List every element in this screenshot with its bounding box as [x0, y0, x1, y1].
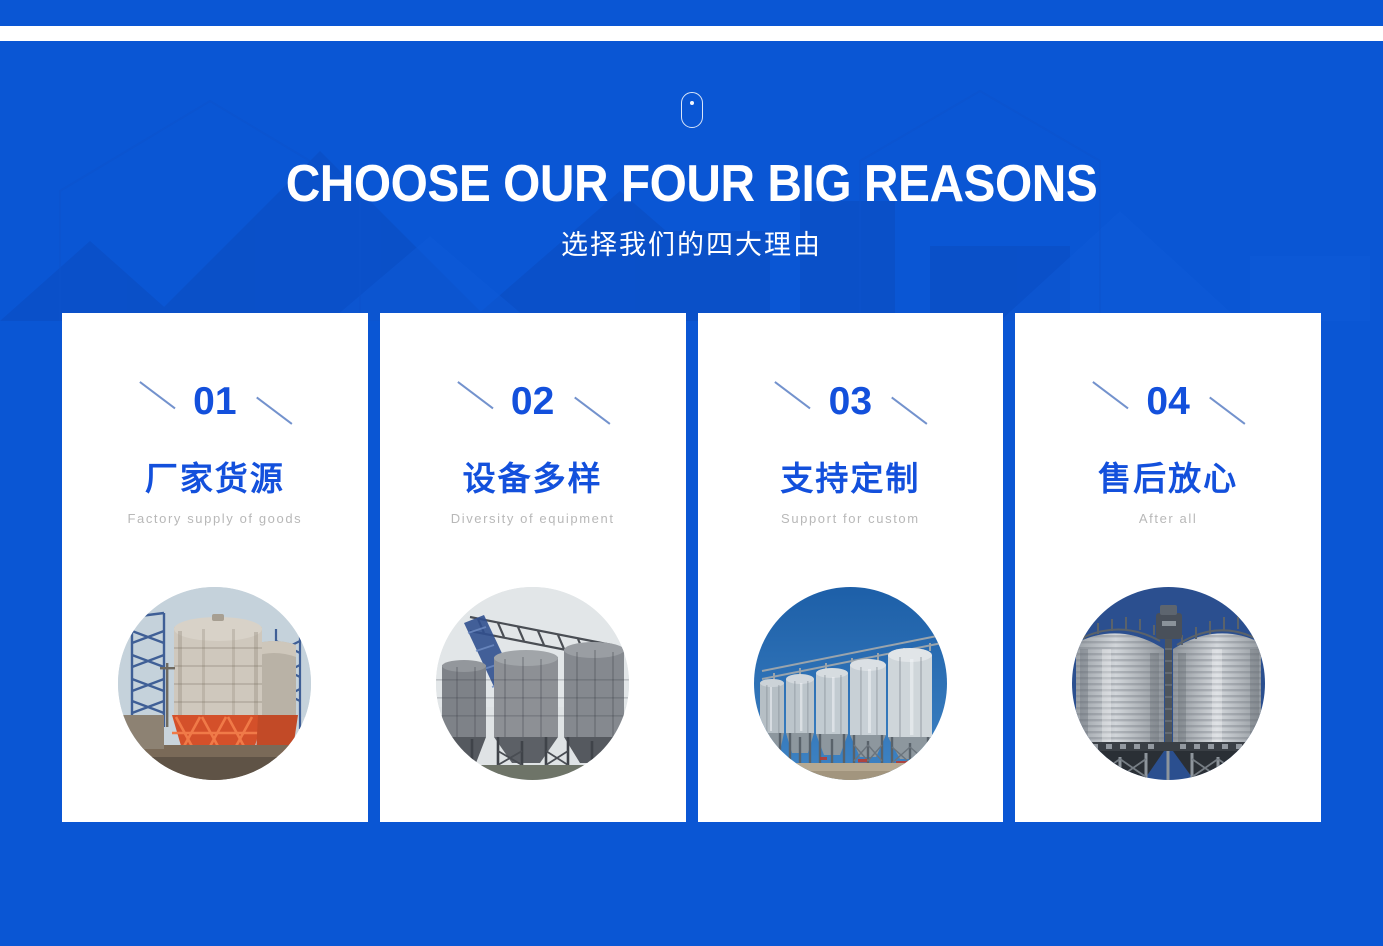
- promo-page: CHOOSE OUR FOUR BIG REASONS 选择我们的四大理由 01…: [0, 0, 1383, 946]
- card-subtitle: After all: [1068, 509, 1268, 528]
- diagonal-tick-icon: [457, 381, 493, 409]
- card-subtitle: Factory supply of goods: [115, 509, 315, 528]
- diagonal-tick-icon: [1210, 397, 1246, 425]
- card-number: 03: [829, 380, 872, 424]
- card-title: 支持定制: [780, 459, 920, 499]
- mouse-scroll-icon[interactable]: [681, 92, 703, 128]
- card-subtitle: Diversity of equipment: [433, 509, 633, 528]
- page-title: CHOOSE OUR FOUR BIG REASONS: [55, 155, 1327, 213]
- mouse-scroll-dot: [690, 101, 694, 105]
- card-number-group: 04: [1083, 376, 1253, 428]
- steel-silo-orange-base-photo: [118, 587, 311, 780]
- card-title: 售后放心: [1098, 459, 1238, 499]
- silo-battery-conveyor-photo: [436, 587, 629, 780]
- silo-row-blue-sky-photo: [754, 587, 947, 780]
- reason-card-list: 01 厂家货源 Factory supply of goods: [62, 313, 1321, 822]
- card-number-group: 01: [130, 376, 300, 428]
- diagonal-tick-icon: [256, 397, 292, 425]
- diagonal-tick-icon: [892, 397, 928, 425]
- reason-card-01[interactable]: 01 厂家货源 Factory supply of goods: [62, 313, 368, 822]
- reason-card-04[interactable]: 04 售后放心 After all: [1015, 313, 1321, 822]
- twin-corrugated-silos-photo: [1072, 587, 1265, 780]
- diagonal-tick-icon: [139, 381, 175, 409]
- card-number: 02: [511, 380, 554, 424]
- diagonal-tick-icon: [775, 381, 811, 409]
- section-header: CHOOSE OUR FOUR BIG REASONS 选择我们的四大理由: [0, 155, 1383, 262]
- top-divider-band: [0, 26, 1383, 41]
- diagonal-tick-icon: [574, 397, 610, 425]
- card-number: 01: [193, 380, 236, 424]
- reason-card-03[interactable]: 03 支持定制 Support for custom: [698, 313, 1004, 822]
- diagonal-tick-icon: [1093, 381, 1129, 409]
- card-subtitle: Support for custom: [750, 509, 950, 528]
- reason-card-02[interactable]: 02 设备多样 Diversity of equipment: [380, 313, 686, 822]
- card-number-group: 02: [448, 376, 618, 428]
- card-title: 厂家货源: [145, 459, 285, 499]
- card-title: 设备多样: [463, 459, 603, 499]
- page-subtitle: 选择我们的四大理由: [0, 228, 1383, 262]
- card-number-group: 03: [765, 376, 935, 428]
- card-number: 04: [1146, 380, 1189, 424]
